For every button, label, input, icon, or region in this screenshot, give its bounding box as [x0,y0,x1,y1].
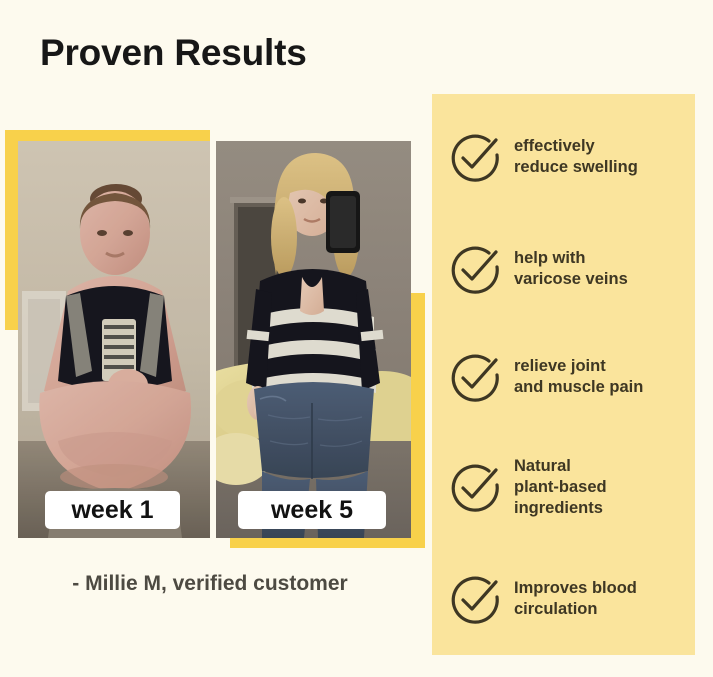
benefit-item: Improves blood circulation [446,570,691,628]
before-week-label: week 1 [45,491,180,529]
testimonial-block: week 1 [0,110,432,620]
benefit-label: Natural plant-based ingredients [514,456,607,518]
before-photo [18,141,210,538]
benefit-label: Improves blood circulation [514,578,637,620]
after-photo [216,141,411,538]
check-circle-icon [446,458,504,516]
benefit-item: help with varicose veins [446,240,691,298]
after-photo-image [216,141,411,538]
benefit-item: effectively reduce swelling [446,128,691,186]
benefit-item: Natural plant-based ingredients [446,456,691,518]
testimonial-caption: - Millie M, verified customer [0,572,420,596]
after-week-label: week 5 [238,491,386,529]
check-circle-icon [446,348,504,406]
benefits-panel: effectively reduce swelling help with va… [432,94,695,655]
check-circle-icon [446,128,504,186]
benefit-label: help with varicose veins [514,248,628,290]
page-title: Proven Results [40,32,307,74]
check-circle-icon [446,240,504,298]
benefit-item: relieve joint and muscle pain [446,348,691,406]
before-photo-image [18,141,210,538]
check-circle-icon [446,570,504,628]
benefit-label: relieve joint and muscle pain [514,356,643,398]
benefit-label: effectively reduce swelling [514,136,638,178]
